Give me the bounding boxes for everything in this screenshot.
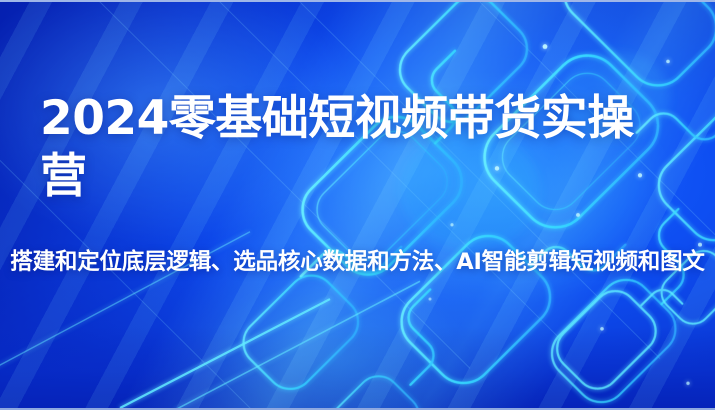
subtitle: 搭建和定位底层逻辑、选品核心数据和方法、AI智能剪辑短视频和图文 (6, 246, 709, 279)
page-title: 2024零基础短视频带货实操营 (40, 90, 680, 206)
text-content: 2024零基础短视频带货实操营 搭建和定位底层逻辑、选品核心数据和方法、AI智能… (0, 2, 715, 408)
promo-banner: 2024零基础短视频带货实操营 搭建和定位底层逻辑、选品核心数据和方法、AI智能… (0, 0, 715, 410)
